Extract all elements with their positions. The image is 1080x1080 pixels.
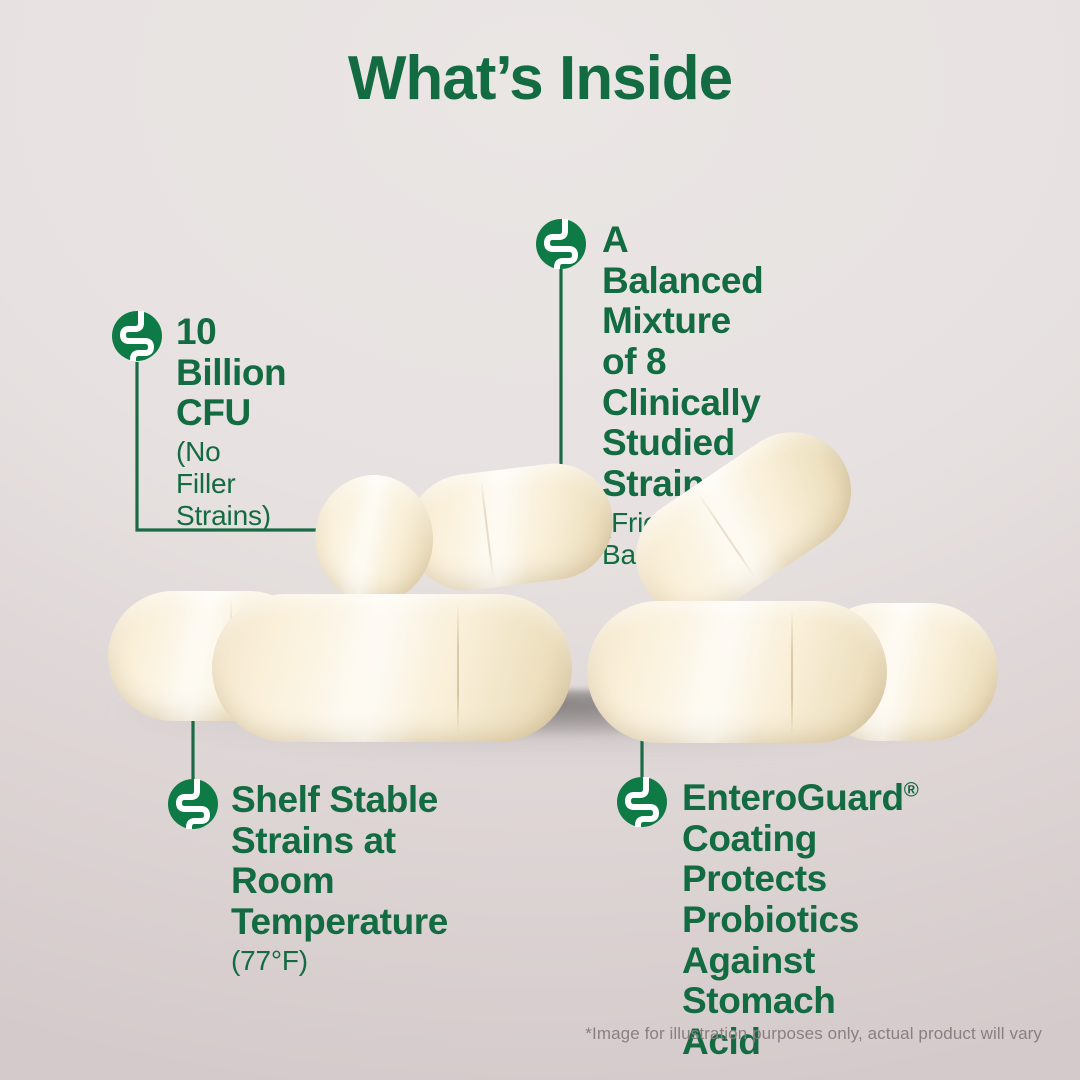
- capsule: [315, 475, 433, 603]
- gut-icon: [112, 311, 162, 361]
- callout-shelf-stable-main: Shelf Stable Strains at Room Temperature: [231, 780, 448, 943]
- infographic-canvas: What’s Inside: [0, 0, 1080, 1080]
- gut-icon: [168, 779, 218, 829]
- capsule: [212, 594, 572, 742]
- callout-cfu-main: 10 Billion CFU: [176, 312, 286, 434]
- callout-enteroguard-text: EnteroGuard®Coating Protects Probiotics …: [682, 778, 918, 1063]
- capsule: [587, 601, 887, 743]
- gut-icon: [617, 777, 667, 827]
- callout-shelf-stable-sub: (77°F): [231, 945, 448, 977]
- callout-enteroguard-main: EnteroGuard®Coating Protects Probiotics …: [682, 778, 918, 1063]
- callout-shelf-stable-text: Shelf Stable Strains at Room Temperature…: [231, 780, 448, 977]
- callout-cfu-sub: (No Filler Strains): [176, 436, 286, 533]
- callout-enteroguard-brand: EnteroGuard: [682, 777, 904, 818]
- gut-icon: [536, 219, 586, 269]
- registered-trademark-icon: ®: [904, 780, 919, 802]
- disclaimer-footnote: *Image for illustration purposes only, a…: [585, 1024, 1042, 1044]
- callout-cfu-text: 10 Billion CFU (No Filler Strains): [176, 312, 286, 533]
